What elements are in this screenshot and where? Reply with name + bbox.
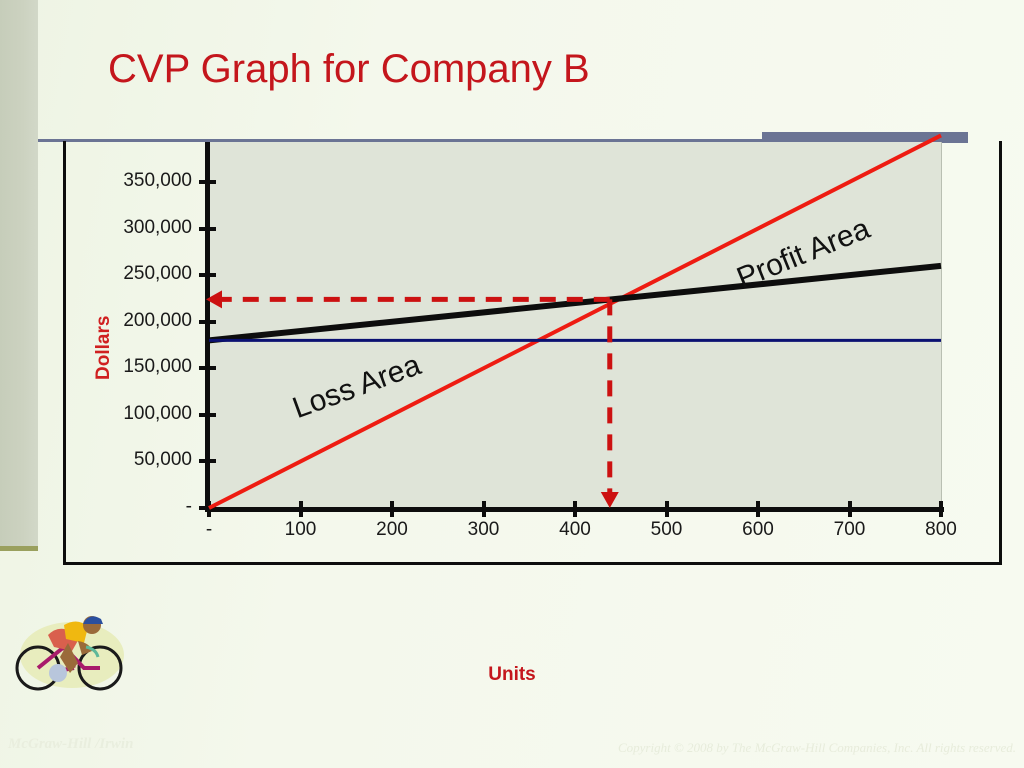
cyclist-logo-icon — [12, 605, 132, 700]
x-axis-tick — [756, 501, 760, 517]
y-axis-tick — [199, 320, 216, 324]
x-axis-tick — [848, 501, 852, 517]
y-axis-tick — [199, 413, 216, 417]
left-decorative-strip — [0, 0, 38, 546]
y-axis-tick — [199, 180, 216, 184]
chart-plot-area — [209, 142, 942, 508]
footer-copyright: Copyright © 2008 by The McGraw-Hill Comp… — [618, 740, 1016, 756]
y-axis-tick-label: - — [92, 496, 192, 518]
left-strip-accent — [0, 546, 38, 551]
x-axis-tick-label: 600 — [718, 519, 798, 541]
x-axis-tick — [482, 501, 486, 517]
y-axis-tick — [199, 227, 216, 231]
x-axis-tick — [299, 501, 303, 517]
x-axis-tick-label: 300 — [444, 519, 524, 541]
y-axis-title: Dollars — [93, 316, 115, 380]
x-axis-tick — [665, 501, 669, 517]
x-axis-tick-label: 400 — [535, 519, 615, 541]
y-axis-tick-label: 250,000 — [92, 263, 192, 285]
x-axis-tick — [390, 501, 394, 517]
x-axis-title: Units — [0, 664, 1024, 686]
x-axis-tick-label: 100 — [261, 519, 341, 541]
y-axis-tick-label: 100,000 — [92, 403, 192, 425]
y-axis-tick — [199, 459, 216, 463]
footer-publisher: McGraw-Hill /Irwin — [8, 736, 133, 753]
x-axis-tick-label: 200 — [352, 519, 432, 541]
x-axis-tick-label: 500 — [627, 519, 707, 541]
y-axis-tick-label: 50,000 — [92, 449, 192, 471]
x-axis-tick-label: - — [169, 519, 249, 541]
x-axis-tick — [573, 501, 577, 517]
y-axis-line — [205, 142, 210, 512]
x-axis-tick — [207, 501, 211, 517]
x-axis-tick-label: 700 — [810, 519, 890, 541]
y-axis-tick-label: 350,000 — [92, 170, 192, 192]
y-axis-tick — [199, 366, 216, 370]
x-axis-tick-label: 800 — [901, 519, 981, 541]
x-axis-tick — [939, 501, 943, 517]
y-axis-tick-label: 300,000 — [92, 217, 192, 239]
y-axis-tick — [199, 273, 216, 277]
